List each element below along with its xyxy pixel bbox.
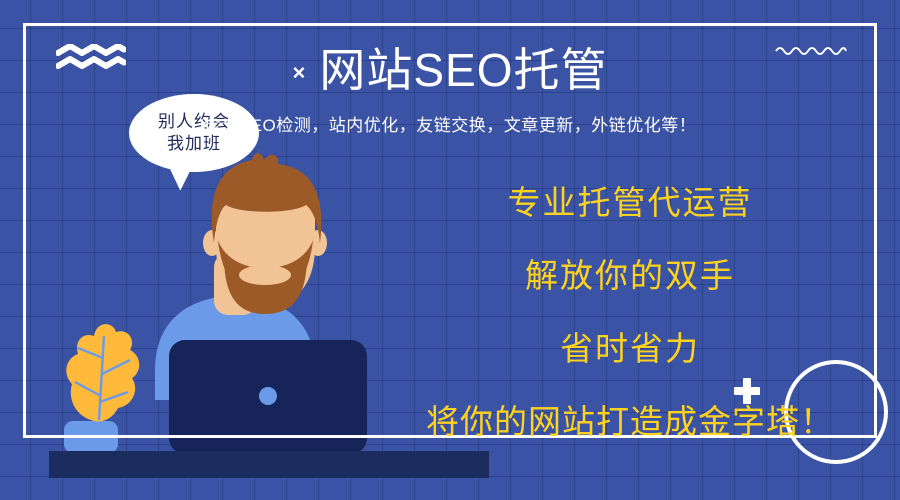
page-title: 网站SEO托管 [319, 44, 607, 97]
slogan-list: 专业托管代运营 解放你的双手 省时省力 将你的网站打造成金字塔！ [390, 186, 870, 438]
page-subtitle: 含：SEO检测，站内优化，友链交换，文章更新，外链优化等！ [0, 111, 900, 136]
slogan-line: 省时省力 [390, 332, 870, 365]
seo-hosting-banner: 别人约会 我加班 × 网站SEO托管 含：SEO检测，站内优化，友链交换，文章更… [0, 0, 900, 500]
slogan-line: 将你的网站打造成金字塔！ [390, 405, 870, 438]
cross-symbol-icon: × [292, 62, 305, 84]
headline-block: × 网站SEO托管 含：SEO检测，站内优化，友链交换，文章更新，外链优化等！ [0, 44, 900, 136]
mouth-shape [239, 265, 291, 285]
slogan-line: 专业托管代运营 [390, 186, 870, 219]
title-row: × 网站SEO托管 [292, 44, 607, 97]
slogan-line: 解放你的双手 [390, 259, 870, 292]
plant-pot [64, 421, 118, 453]
desk-surface [49, 451, 489, 478]
laptop-logo-icon [259, 387, 277, 405]
speech-bubble-line-2: 我加班 [167, 133, 221, 155]
